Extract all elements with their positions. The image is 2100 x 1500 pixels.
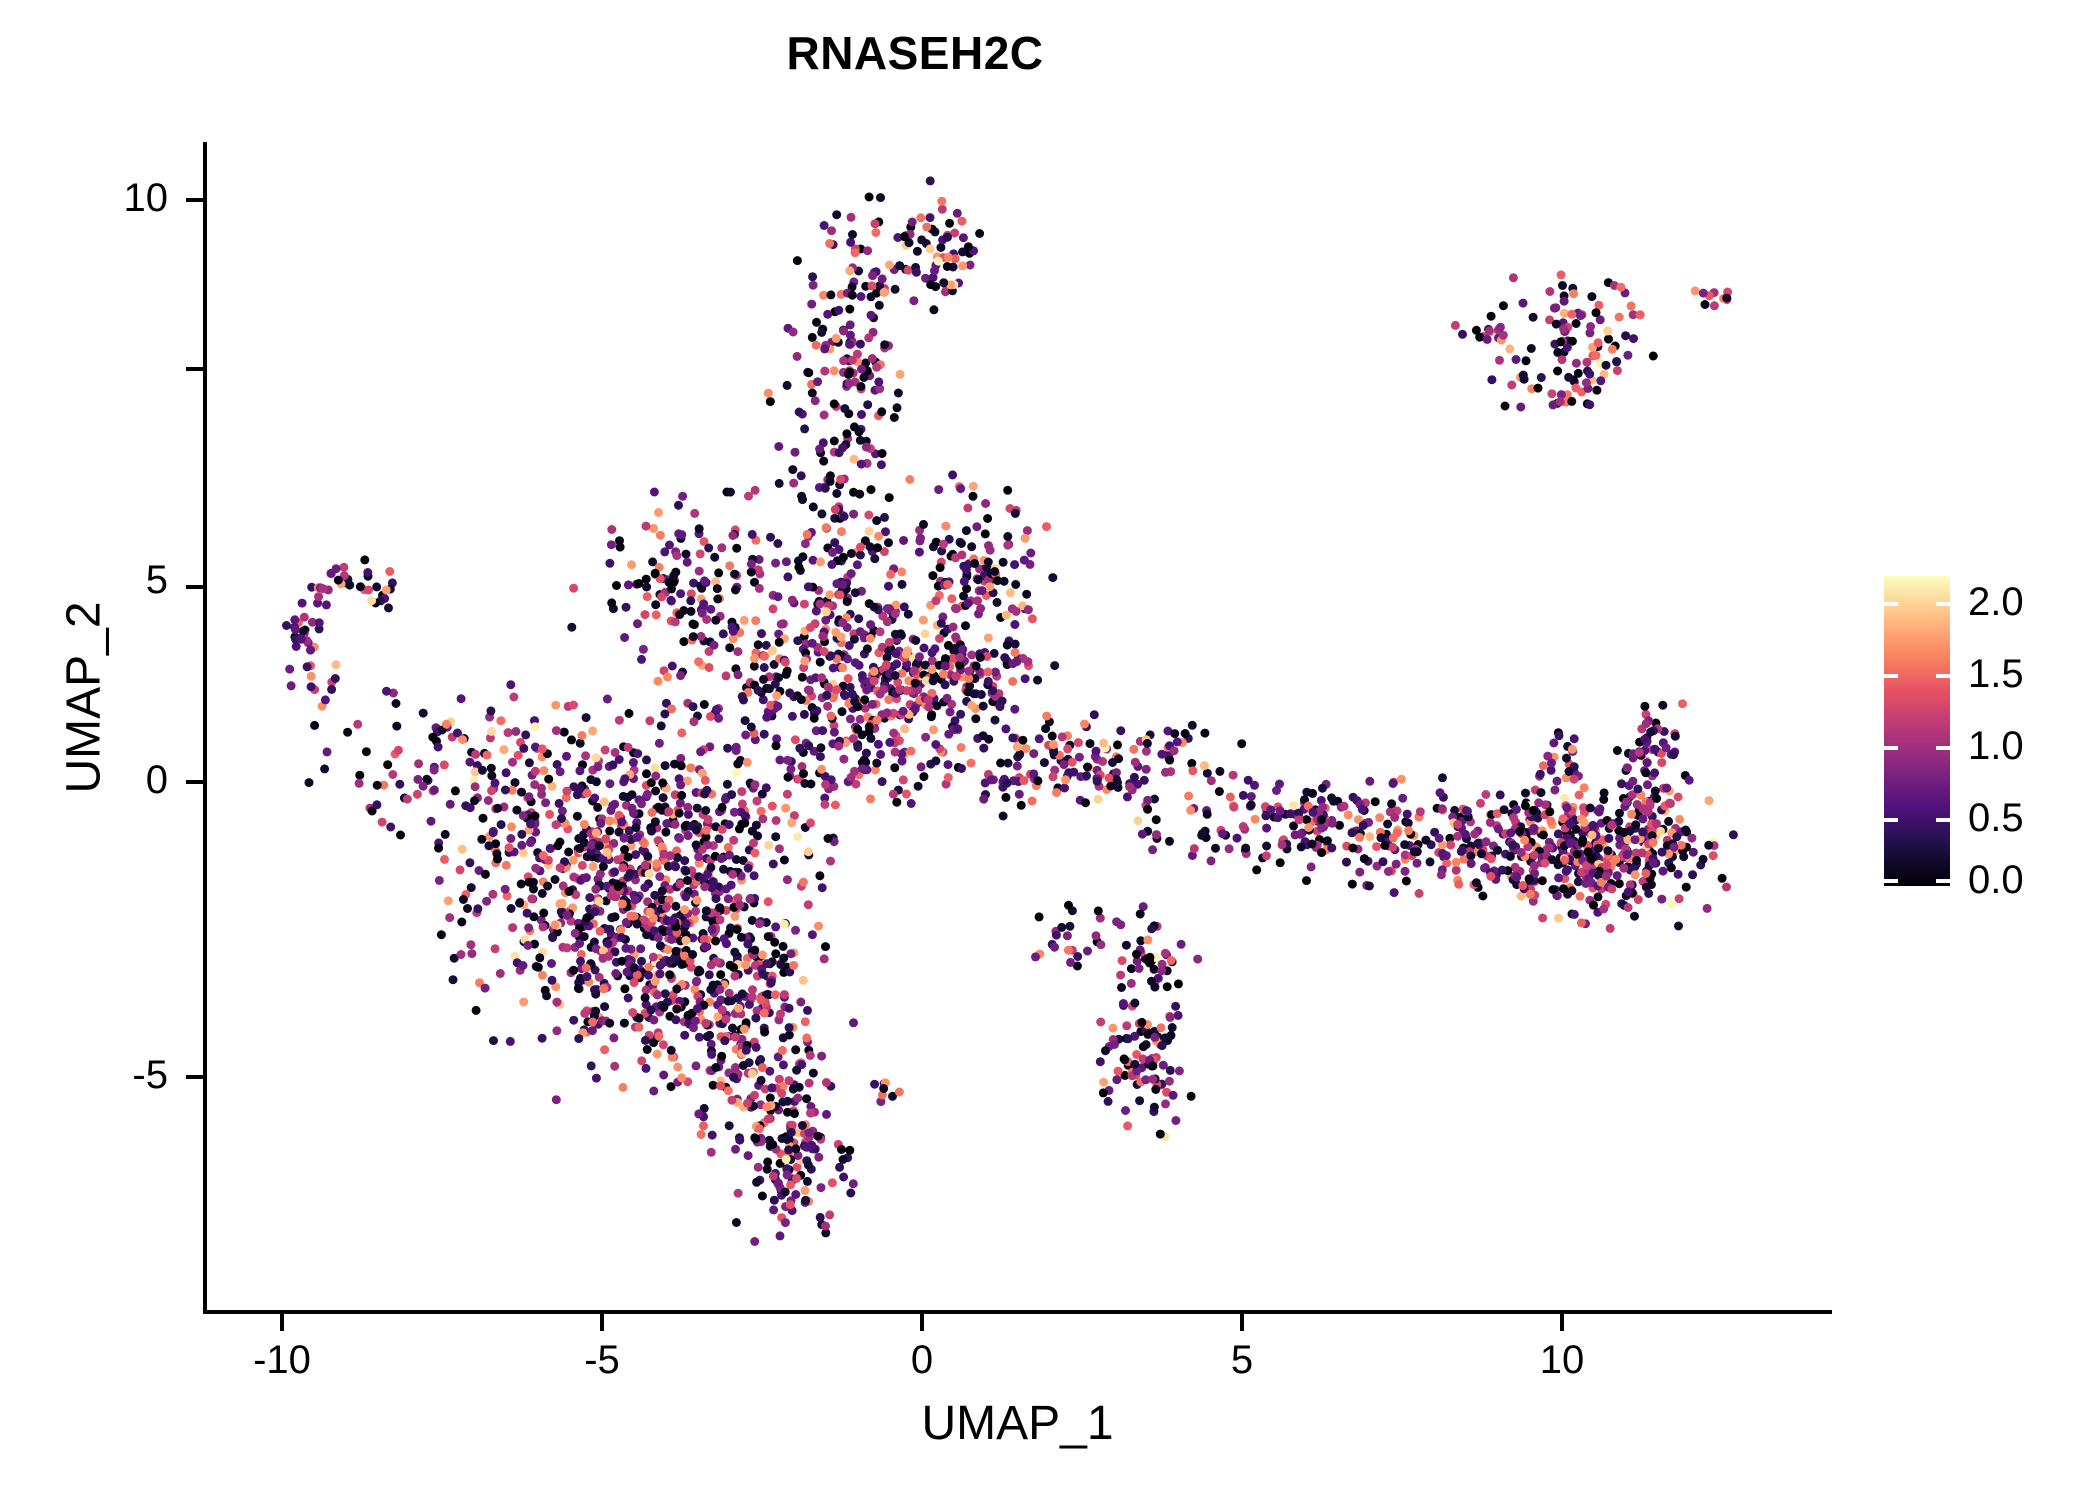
scatter-point bbox=[872, 516, 881, 525]
scatter-point bbox=[1549, 739, 1558, 748]
scatter-point bbox=[899, 775, 908, 784]
scatter-point bbox=[671, 862, 680, 871]
scatter-point bbox=[545, 810, 554, 819]
scatter-point bbox=[689, 632, 698, 641]
scatter-point bbox=[1487, 375, 1496, 384]
scatter-point bbox=[1239, 791, 1248, 800]
scatter-point bbox=[971, 714, 980, 723]
scatter-point bbox=[1682, 883, 1691, 892]
scatter-point bbox=[846, 683, 855, 692]
scatter-point bbox=[733, 647, 742, 656]
scatter-point bbox=[1147, 924, 1156, 933]
scatter-point bbox=[642, 583, 651, 592]
scatter-point bbox=[502, 861, 511, 870]
scatter-point bbox=[596, 819, 605, 828]
scatter-point bbox=[592, 828, 601, 837]
scatter-point bbox=[1166, 1066, 1175, 1075]
scatter-point bbox=[1584, 847, 1593, 856]
scatter-point bbox=[676, 780, 685, 789]
scatter-point bbox=[816, 600, 825, 609]
scatter-point bbox=[878, 777, 887, 786]
scatter-point bbox=[632, 823, 641, 832]
scatter-point bbox=[668, 662, 677, 671]
scatter-point bbox=[622, 603, 631, 612]
scatter-point bbox=[653, 990, 662, 999]
scatter-point bbox=[763, 1157, 772, 1166]
scatter-point bbox=[1600, 788, 1609, 797]
scatter-point bbox=[1118, 956, 1127, 965]
scatter-point bbox=[742, 1046, 751, 1055]
scatter-point bbox=[1371, 797, 1380, 806]
scatter-point bbox=[1266, 805, 1275, 814]
scatter-point bbox=[1436, 788, 1445, 797]
scatter-point bbox=[1344, 810, 1353, 819]
scatter-point bbox=[501, 885, 510, 894]
scatter-point bbox=[1152, 815, 1161, 824]
scatter-point bbox=[1013, 742, 1022, 751]
scatter-point bbox=[1539, 831, 1548, 840]
scatter-point bbox=[326, 569, 335, 578]
scatter-point bbox=[1148, 1075, 1157, 1084]
scatter-point bbox=[879, 1084, 888, 1093]
scatter-point bbox=[780, 990, 789, 999]
scatter-point bbox=[1122, 941, 1131, 950]
scatter-point bbox=[947, 594, 956, 603]
scatter-point bbox=[937, 619, 946, 628]
scatter-point bbox=[871, 228, 880, 237]
scatter-point bbox=[290, 615, 299, 624]
scatter-point bbox=[929, 305, 938, 314]
scatter-point bbox=[1667, 863, 1676, 872]
scatter-point bbox=[1124, 1034, 1133, 1043]
scatter-point bbox=[588, 1026, 597, 1035]
scatter-point bbox=[868, 354, 877, 363]
scatter-point bbox=[1516, 403, 1525, 412]
scatter-point bbox=[826, 712, 835, 721]
scatter-point bbox=[588, 1018, 597, 1027]
scatter-point bbox=[890, 763, 899, 772]
scatter-point bbox=[1099, 1088, 1108, 1097]
scatter-point bbox=[926, 213, 935, 222]
scatter-point bbox=[702, 615, 711, 624]
scatter-point bbox=[743, 1099, 752, 1108]
y-tick-label-neg5: -5 bbox=[48, 1053, 168, 1098]
scatter-point bbox=[1718, 874, 1727, 883]
scatter-point bbox=[1108, 758, 1117, 767]
scatter-point bbox=[766, 533, 775, 542]
scatter-point bbox=[1538, 914, 1547, 923]
scatter-point bbox=[1389, 779, 1398, 788]
scatter-point bbox=[857, 365, 866, 374]
scatter-point bbox=[1011, 509, 1020, 518]
scatter-point bbox=[899, 536, 908, 545]
scatter-point bbox=[707, 1148, 716, 1157]
scatter-point bbox=[298, 599, 307, 608]
scatter-point bbox=[759, 675, 768, 684]
scatter-point bbox=[1029, 749, 1038, 758]
scatter-point bbox=[891, 748, 900, 757]
scatter-point bbox=[651, 787, 660, 796]
scatter-point bbox=[711, 616, 720, 625]
scatter-point bbox=[1161, 768, 1170, 777]
scatter-point bbox=[1592, 386, 1601, 395]
scatter-point bbox=[786, 1180, 795, 1189]
scatter-point bbox=[519, 744, 528, 753]
scatter-point bbox=[667, 1046, 676, 1055]
scatter-point bbox=[713, 584, 722, 593]
scatter-point bbox=[957, 743, 966, 752]
scatter-point bbox=[1615, 879, 1624, 888]
scatter-point bbox=[1174, 979, 1183, 988]
scatter-point bbox=[786, 765, 795, 774]
scatter-point bbox=[291, 625, 300, 634]
scatter-point bbox=[1576, 892, 1585, 901]
scatter-point bbox=[748, 1069, 757, 1078]
scatter-point bbox=[1081, 798, 1090, 807]
scatter-point bbox=[962, 565, 971, 574]
scatter-point bbox=[1554, 829, 1563, 838]
scatter-point bbox=[563, 943, 572, 952]
scatter-point bbox=[838, 663, 847, 672]
scatter-point bbox=[1413, 859, 1422, 868]
scatter-point bbox=[1262, 842, 1271, 851]
scatter-point bbox=[600, 1045, 609, 1054]
scatter-point bbox=[1628, 777, 1637, 786]
scatter-point bbox=[587, 1061, 596, 1070]
scatter-point bbox=[953, 724, 962, 733]
scatter-point bbox=[1559, 884, 1568, 893]
scatter-point bbox=[1328, 819, 1337, 828]
scatter-point bbox=[673, 1063, 682, 1072]
scatter-point bbox=[386, 823, 395, 832]
scatter-point bbox=[1165, 756, 1174, 765]
scatter-point bbox=[1171, 1116, 1180, 1125]
scatter-point bbox=[663, 672, 672, 681]
scatter-point bbox=[1250, 781, 1259, 790]
scatter-point bbox=[738, 799, 747, 808]
scatter-point bbox=[1616, 283, 1625, 292]
scatter-point bbox=[644, 971, 653, 980]
scatter-point bbox=[539, 922, 548, 931]
scatter-point bbox=[1688, 870, 1697, 879]
scatter-point bbox=[456, 865, 465, 874]
scatter-point bbox=[470, 796, 479, 805]
scatter-point bbox=[874, 532, 883, 541]
scatter-point bbox=[1135, 1096, 1144, 1105]
scatter-point bbox=[800, 424, 809, 433]
scatter-point bbox=[1142, 765, 1151, 774]
scatter-point bbox=[724, 843, 733, 852]
scatter-point bbox=[297, 635, 306, 644]
scatter-point bbox=[592, 753, 601, 762]
scatter-point bbox=[828, 548, 837, 557]
scatter-point bbox=[955, 661, 964, 670]
scatter-point bbox=[1131, 758, 1140, 767]
scatter-point bbox=[1474, 839, 1483, 848]
scatter-point bbox=[680, 856, 689, 865]
scatter-point bbox=[1643, 780, 1652, 789]
scatter-point bbox=[880, 288, 889, 297]
scatter-point bbox=[315, 618, 324, 627]
scatter-point bbox=[1612, 357, 1621, 366]
scatter-point bbox=[809, 502, 818, 511]
scatter-point bbox=[934, 257, 943, 266]
scatter-point bbox=[1360, 854, 1369, 863]
scatter-point bbox=[624, 994, 633, 1003]
scatter-point bbox=[957, 217, 966, 226]
scatter-point bbox=[696, 747, 705, 756]
scatter-point bbox=[521, 730, 530, 739]
scatter-point bbox=[1454, 880, 1463, 889]
y-tick-neg5 bbox=[186, 1075, 203, 1079]
scatter-point bbox=[1564, 373, 1573, 382]
scatter-point bbox=[893, 403, 902, 412]
scatter-point bbox=[956, 653, 965, 662]
scatter-point bbox=[687, 607, 696, 616]
scatter-point bbox=[484, 796, 493, 805]
scatter-point bbox=[818, 883, 827, 892]
scatter-point bbox=[739, 1061, 748, 1070]
scatter-point bbox=[701, 806, 710, 815]
scatter-point bbox=[1619, 828, 1628, 837]
scatter-point bbox=[466, 940, 475, 949]
scatter-point bbox=[705, 663, 714, 672]
scatter-point bbox=[919, 772, 928, 781]
scatter-point bbox=[564, 848, 573, 857]
scatter-point bbox=[441, 830, 450, 839]
scatter-point bbox=[716, 970, 725, 979]
scatter-point bbox=[967, 759, 976, 768]
scatter-point bbox=[535, 953, 544, 962]
scatter-point bbox=[539, 851, 548, 860]
scatter-point bbox=[1667, 900, 1676, 909]
scatter-point bbox=[838, 707, 847, 716]
scatter-point bbox=[933, 701, 942, 710]
scatter-point bbox=[839, 1173, 848, 1182]
scatter-point bbox=[637, 655, 646, 664]
scatter-point bbox=[382, 586, 391, 595]
scatter-point bbox=[791, 448, 800, 457]
colorbar-tick-1.0-left bbox=[1884, 746, 1898, 750]
scatter-point bbox=[1627, 810, 1636, 819]
scatter-point bbox=[870, 554, 879, 563]
scatter-point bbox=[1011, 580, 1020, 589]
y-tick-5 bbox=[186, 367, 203, 371]
scatter-point bbox=[659, 793, 668, 802]
scatter-point bbox=[471, 750, 480, 759]
scatter-point bbox=[1013, 762, 1022, 771]
scatter-point bbox=[655, 739, 664, 748]
scatter-point bbox=[710, 641, 719, 650]
scatter-point bbox=[543, 882, 552, 891]
scatter-point bbox=[1498, 866, 1507, 875]
scatter-point bbox=[1207, 776, 1216, 785]
scatter-point bbox=[1556, 397, 1565, 406]
scatter-point bbox=[540, 766, 549, 775]
scatter-point bbox=[816, 743, 825, 752]
scatter-point bbox=[975, 229, 984, 238]
scatter-point bbox=[1623, 850, 1632, 859]
scatter-point bbox=[764, 932, 773, 941]
scatter-point bbox=[1588, 831, 1597, 840]
colorbar-label-0.5: 0.5 bbox=[1968, 796, 2088, 841]
scatter-point bbox=[1638, 827, 1647, 836]
scatter-point bbox=[738, 989, 747, 998]
scatter-point bbox=[911, 636, 920, 645]
scatter-point bbox=[1066, 958, 1075, 967]
scatter-point bbox=[979, 744, 988, 753]
scatter-point bbox=[810, 714, 819, 723]
scatter-point bbox=[976, 653, 985, 662]
scatter-point bbox=[1203, 810, 1212, 819]
scatter-point bbox=[1188, 721, 1197, 730]
scatter-point bbox=[434, 844, 443, 853]
scatter-point bbox=[590, 794, 599, 803]
x-tick-10 bbox=[1560, 1314, 1564, 1331]
scatter-point bbox=[1035, 734, 1044, 743]
scatter-point bbox=[820, 344, 829, 353]
scatter-point bbox=[1171, 1002, 1180, 1011]
x-axis-title: UMAP_1 bbox=[203, 1396, 1832, 1451]
scatter-point bbox=[826, 471, 835, 480]
scatter-point bbox=[783, 667, 792, 676]
scatter-point bbox=[1308, 789, 1317, 798]
scatter-point bbox=[892, 660, 901, 669]
scatter-point bbox=[764, 897, 773, 906]
scatter-point bbox=[615, 716, 624, 725]
scatter-point bbox=[378, 818, 387, 827]
scatter-point bbox=[1064, 946, 1073, 955]
scatter-point bbox=[1477, 849, 1486, 858]
scatter-point bbox=[767, 978, 776, 987]
scatter-point bbox=[816, 658, 825, 667]
scatter-point bbox=[1233, 834, 1242, 843]
scatter-point bbox=[944, 773, 953, 782]
scatter-point bbox=[838, 618, 847, 627]
scatter-point bbox=[743, 758, 752, 767]
scatter-point bbox=[973, 596, 982, 605]
scatter-point bbox=[885, 638, 894, 647]
scatter-point bbox=[802, 1033, 811, 1042]
scatter-point bbox=[921, 630, 930, 639]
scatter-point bbox=[1570, 910, 1579, 919]
scatter-point bbox=[1565, 819, 1574, 828]
scatter-point bbox=[743, 940, 752, 949]
scatter-point bbox=[1599, 905, 1608, 914]
scatter-point bbox=[504, 728, 513, 737]
scatter-point bbox=[631, 896, 640, 905]
scatter-point bbox=[883, 708, 892, 717]
scatter-point bbox=[1606, 924, 1615, 933]
scatter-point bbox=[675, 809, 684, 818]
scatter-point bbox=[944, 760, 953, 769]
scatter-point bbox=[792, 1066, 801, 1075]
scatter-point bbox=[799, 878, 808, 887]
scatter-point bbox=[789, 961, 798, 970]
scatter-point bbox=[795, 744, 804, 753]
scatter-point bbox=[659, 850, 668, 859]
colorbar-tick-2.0-left bbox=[1884, 602, 1898, 606]
scatter-point bbox=[737, 933, 746, 942]
scatter-point bbox=[740, 1025, 749, 1034]
scatter-point bbox=[1557, 270, 1566, 279]
scatter-point bbox=[497, 820, 506, 829]
scatter-point bbox=[764, 841, 773, 850]
scatter-point bbox=[1553, 777, 1562, 786]
scatter-point bbox=[876, 193, 885, 202]
scatter-point bbox=[1188, 766, 1197, 775]
colorbar-tick-1.0-right bbox=[1936, 746, 1950, 750]
scatter-point bbox=[802, 1094, 811, 1103]
scatter-point bbox=[641, 1036, 650, 1045]
scatter-point bbox=[645, 869, 654, 878]
scatter-point bbox=[1006, 588, 1015, 597]
scatter-point bbox=[866, 734, 875, 743]
scatter-point bbox=[725, 1121, 734, 1130]
scatter-point bbox=[856, 382, 865, 391]
scatter-point bbox=[1547, 389, 1556, 398]
scatter-point bbox=[542, 991, 551, 1000]
scatter-point bbox=[508, 758, 517, 767]
scatter-point bbox=[1247, 800, 1256, 809]
scatter-point bbox=[605, 1019, 614, 1028]
scatter-point bbox=[1656, 827, 1665, 836]
scatter-point bbox=[728, 870, 737, 879]
scatter-point bbox=[1112, 1075, 1121, 1084]
scatter-point bbox=[1619, 864, 1628, 873]
scatter-point bbox=[725, 851, 734, 860]
scatter-point bbox=[489, 1036, 498, 1045]
scatter-point bbox=[724, 1086, 733, 1095]
scatter-point bbox=[821, 780, 830, 789]
scatter-point bbox=[1317, 848, 1326, 857]
scatter-point bbox=[905, 238, 914, 247]
scatter-point bbox=[845, 379, 854, 388]
scatter-point bbox=[457, 918, 466, 927]
scatter-point bbox=[1083, 947, 1092, 956]
scatter-point bbox=[813, 1132, 822, 1141]
scatter-point bbox=[596, 927, 605, 936]
scatter-point bbox=[928, 571, 937, 580]
scatter-point bbox=[689, 620, 698, 629]
scatter-point bbox=[920, 644, 929, 653]
scatter-point bbox=[507, 822, 516, 831]
scatter-point bbox=[583, 913, 592, 922]
scatter-point bbox=[949, 623, 958, 632]
scatter-point bbox=[662, 902, 671, 911]
scatter-point bbox=[1572, 319, 1581, 328]
scatter-point bbox=[791, 735, 800, 744]
scatter-point bbox=[653, 1050, 662, 1059]
scatter-point bbox=[882, 660, 891, 669]
scatter-point bbox=[1649, 858, 1658, 867]
scatter-point bbox=[1286, 809, 1295, 818]
scatter-point bbox=[1545, 287, 1554, 296]
scatter-point bbox=[991, 716, 1000, 725]
scatter-point bbox=[519, 848, 528, 857]
scatter-point bbox=[539, 909, 548, 918]
scatter-point bbox=[774, 592, 783, 601]
scatter-point bbox=[1675, 894, 1684, 903]
scatter-point bbox=[820, 647, 829, 656]
scatter-point bbox=[972, 662, 981, 671]
scatter-point bbox=[1650, 745, 1659, 754]
scatter-point bbox=[1652, 819, 1661, 828]
scatter-point bbox=[783, 1097, 792, 1106]
scatter-point bbox=[895, 685, 904, 694]
scatter-point bbox=[1674, 922, 1683, 931]
scatter-point bbox=[692, 826, 701, 835]
